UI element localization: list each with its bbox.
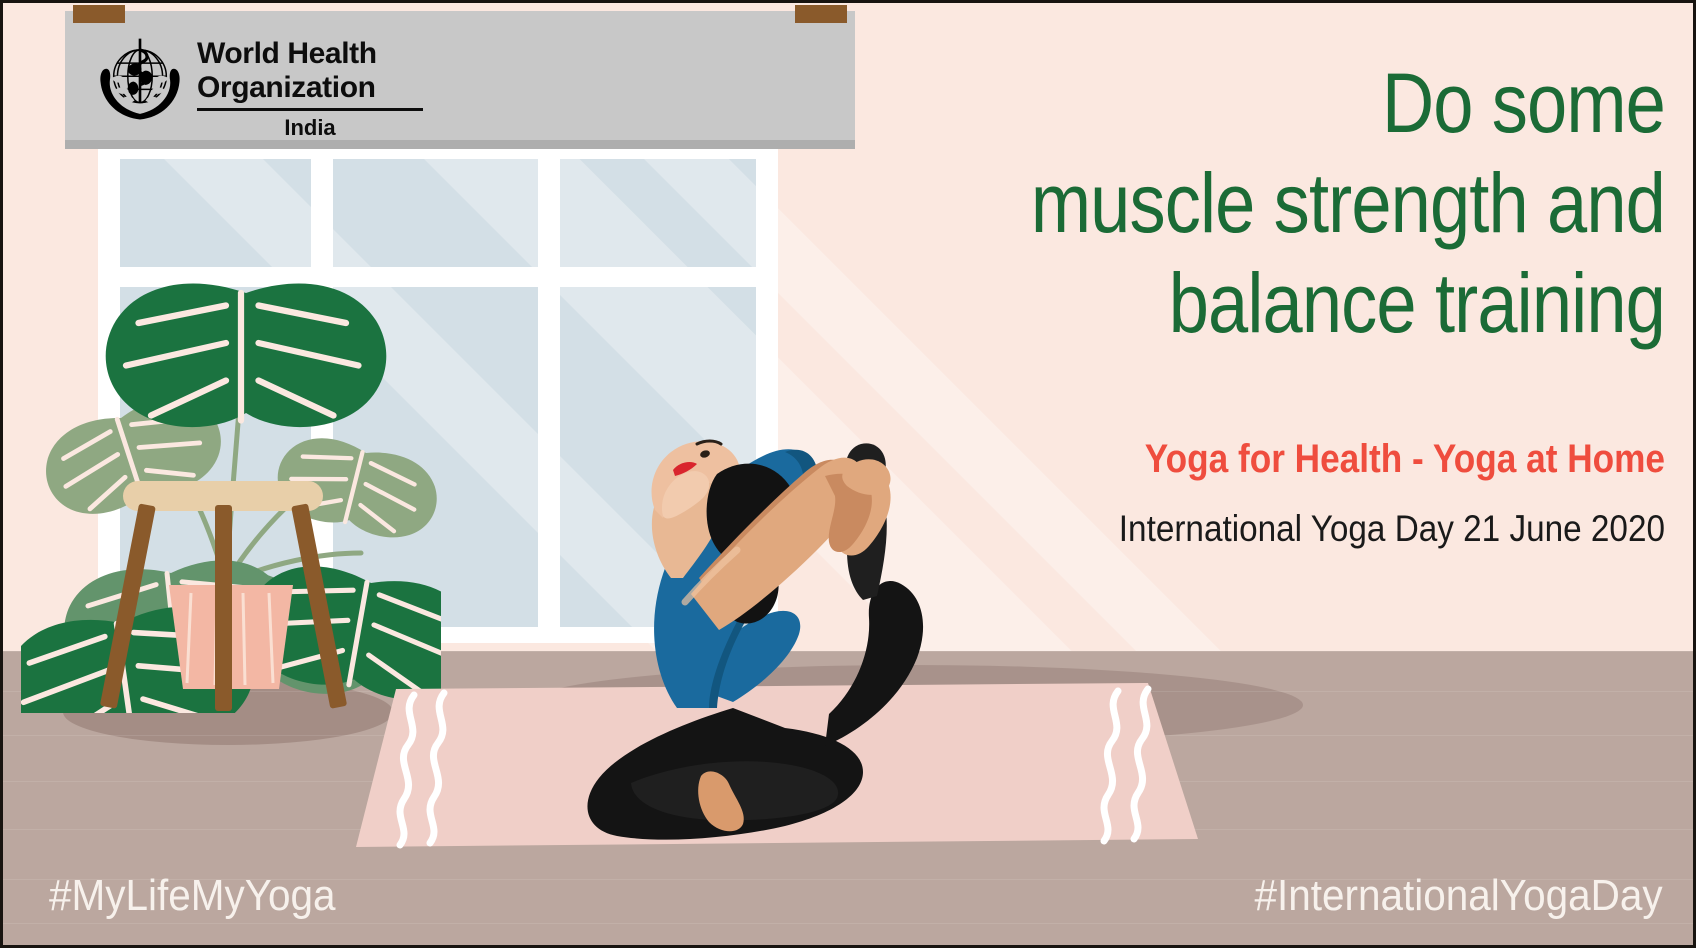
who-org-line2: Organization — [197, 71, 423, 105]
stool-leg — [215, 505, 232, 711]
headline-line-2: muscle strength and — [1011, 153, 1665, 253]
banner-hanger-tab-left — [73, 5, 125, 23]
woman-king-pigeon-pose — [433, 278, 1053, 858]
subtitle: Yoga for Health - Yoga at Home — [996, 435, 1665, 483]
event-dateline: International Yoga Day 21 June 2020 — [981, 506, 1665, 552]
who-wordmark: World Health Organization India — [197, 37, 423, 141]
hashtag-internationalyogaday: #InternationalYogaDay — [1255, 871, 1663, 921]
headline-line-3: balance training — [1011, 253, 1665, 353]
who-divider — [197, 108, 423, 111]
who-emblem-icon — [93, 33, 187, 127]
who-banner: World Health Organization India — [65, 11, 855, 149]
banner-bottom-edge — [65, 140, 855, 149]
hashtag-mylifemyyoga: #MyLifeMyYoga — [49, 871, 336, 921]
plant-stool — [123, 481, 323, 711]
headline-line-1: Do some — [1011, 53, 1665, 153]
who-country-label: India — [197, 115, 423, 141]
headline: Do some muscle strength and balance trai… — [1011, 53, 1665, 353]
yoga-day-poster: World Health Organization India Do some … — [0, 0, 1696, 948]
who-org-line1: World Health — [197, 37, 423, 71]
banner-hanger-tab-right — [795, 5, 847, 23]
